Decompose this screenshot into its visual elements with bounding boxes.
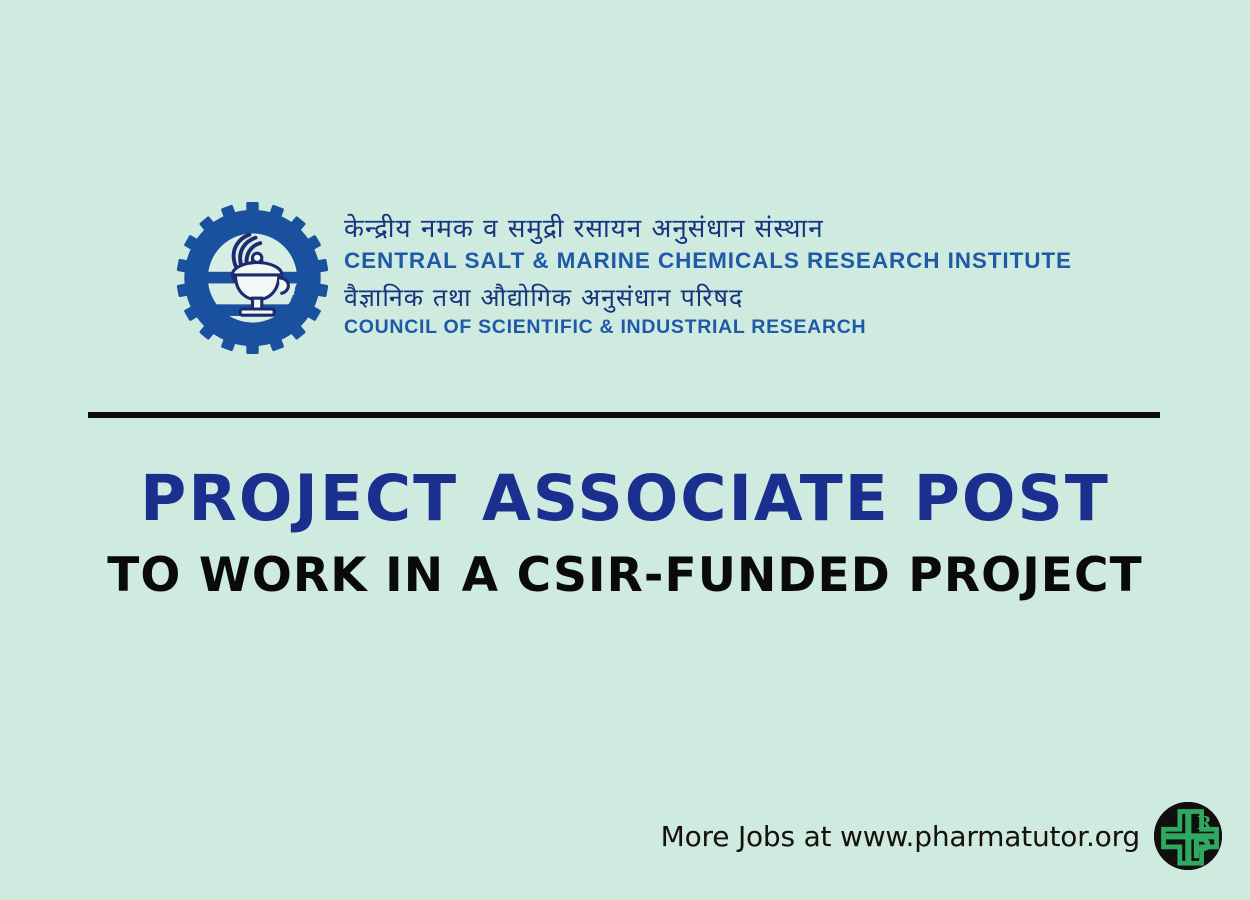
page-title: PROJECT ASSOCIATE POST	[0, 466, 1250, 532]
parent-org-english: COUNCIL OF SCIENTIFIC & INDUSTRIAL RESEA…	[344, 314, 1072, 341]
pharmatutor-cross-logo[interactable]: R P	[1154, 802, 1222, 870]
logo-letter-p: P	[1191, 834, 1211, 865]
page-subtitle: TO WORK IN A CSIR-FUNDED PROJECT	[0, 551, 1250, 602]
institute-name-english: CENTRAL SALT & MARINE CHEMICALS RESEARCH…	[344, 245, 1072, 278]
csir-gear-lamp-emblem: · CSIR INDIA ·	[175, 198, 330, 358]
footer-website-text: More Jobs at www.pharmatutor.org	[661, 820, 1140, 853]
footer: More Jobs at www.pharmatutor.org R P	[661, 802, 1222, 870]
institute-name-block: केन्द्रीय नमक व समुद्री रसायन अनुसंधान स…	[344, 214, 1072, 341]
horizontal-divider	[88, 412, 1160, 418]
parent-org-hindi: वैज्ञानिक तथा औद्योगिक अनुसंधान परिषद	[344, 282, 1072, 315]
poster-canvas: · CSIR INDIA · केन्द्रीय नमक व समुद्री र…	[0, 0, 1250, 900]
logo-letter-r: R	[1197, 813, 1212, 834]
institute-header: · CSIR INDIA · केन्द्रीय नमक व समुद्री र…	[175, 198, 1072, 358]
institute-name-hindi: केन्द्रीय नमक व समुद्री रसायन अनुसंधान स…	[344, 214, 1072, 245]
